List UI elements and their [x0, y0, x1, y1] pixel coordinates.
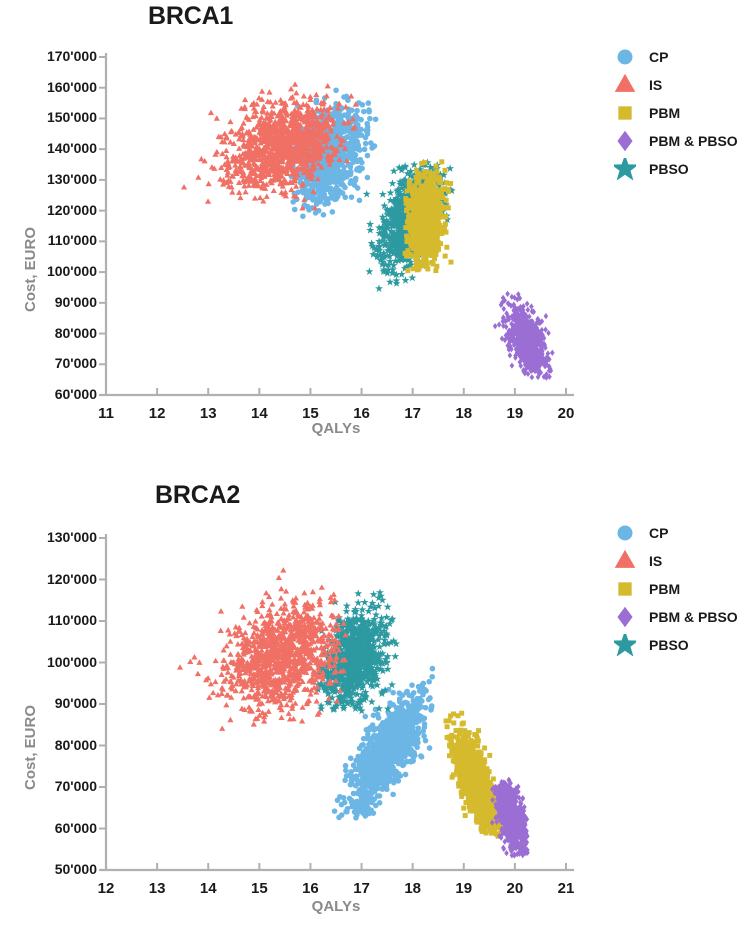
legend-label: PBM — [649, 105, 680, 121]
chart-panel-brca2: BRCA2 Cost, EURO QALYs CPISPBMPBM & PBSO… — [0, 466, 749, 932]
y-tick-label: 50'000 — [11, 861, 97, 877]
y-tick-label: 110'000 — [11, 612, 97, 628]
y-tick-label: 170'000 — [11, 48, 97, 64]
star-marker-icon — [612, 158, 638, 180]
x-tick-label: 17 — [342, 880, 382, 897]
legend-item-pbm[interactable]: PBM — [612, 99, 738, 127]
x-tick-label: 21 — [546, 880, 586, 897]
plot-area-brca1 — [106, 57, 566, 395]
y-tick-label: 70'000 — [11, 778, 97, 794]
y-tick-label: 150'000 — [11, 109, 97, 125]
y-tick-label: 120'000 — [11, 571, 97, 587]
diamond-marker-icon — [612, 130, 638, 152]
legend-label: PBM & PBSO — [649, 609, 738, 625]
circle-marker-icon — [612, 46, 638, 68]
x-tick-label: 15 — [239, 880, 279, 897]
y-tick-label: 130'000 — [11, 529, 97, 545]
y-tick-label: 130'000 — [11, 171, 97, 187]
x-tick-label: 20 — [546, 405, 586, 422]
x-tick-label: 14 — [188, 880, 228, 897]
plot-area-brca2 — [106, 538, 566, 870]
legend-label: PBM & PBSO — [649, 133, 738, 149]
legend-item-is[interactable]: IS — [612, 547, 738, 575]
series-pbm-pbso — [493, 291, 555, 381]
x-tick-label: 13 — [188, 405, 228, 422]
y-tick-label: 110'000 — [11, 232, 97, 248]
legend-label: IS — [649, 77, 662, 93]
y-tick-label: 60'000 — [11, 820, 97, 836]
y-tick-label: 90'000 — [11, 695, 97, 711]
legend-item-pbm[interactable]: PBM — [612, 575, 738, 603]
legend-label: IS — [649, 553, 662, 569]
legend-label: PBM — [649, 581, 680, 597]
legend-label: CP — [649, 525, 668, 541]
legend-item-pbso[interactable]: PBSO — [612, 155, 738, 183]
y-tick-label: 80'000 — [11, 325, 97, 341]
x-tick-label: 16 — [342, 405, 382, 422]
x-tick-label: 12 — [137, 405, 177, 422]
y-tick-label: 90'000 — [11, 294, 97, 310]
x-tick-label: 17 — [393, 405, 433, 422]
square-marker-icon — [612, 578, 638, 600]
legend-item-cp[interactable]: CP — [612, 519, 738, 547]
legend-item-pbm-pbso[interactable]: PBM & PBSO — [612, 603, 738, 631]
circle-marker-icon — [612, 522, 638, 544]
chart-panel-brca1: BRCA1 Cost, EURO QALYs CPISPBMPBM & PBSO… — [0, 0, 749, 466]
y-tick-label: 70'000 — [11, 355, 97, 371]
x-tick-label: 18 — [444, 405, 484, 422]
square-marker-icon — [612, 102, 638, 124]
chart-title-brca1: BRCA1 — [148, 2, 233, 31]
scatter-canvas-brca1 — [106, 57, 566, 395]
scatter-canvas-brca2 — [106, 538, 566, 870]
legend-item-pbso[interactable]: PBSO — [612, 631, 738, 659]
legend-item-pbm-pbso[interactable]: PBM & PBSO — [612, 127, 738, 155]
y-tick-label: 60'000 — [11, 386, 97, 402]
x-tick-label: 16 — [290, 880, 330, 897]
legend-label: CP — [649, 49, 668, 65]
legend-label: PBSO — [649, 637, 689, 653]
y-tick-label: 80'000 — [11, 737, 97, 753]
legend-item-is[interactable]: IS — [612, 71, 738, 99]
x-tick-label: 12 — [86, 880, 126, 897]
legend-item-cp[interactable]: CP — [612, 43, 738, 71]
x-tick-label: 13 — [137, 880, 177, 897]
x-tick-label: 14 — [239, 405, 279, 422]
figure-root: BRCA1 Cost, EURO QALYs CPISPBMPBM & PBSO… — [0, 0, 749, 933]
x-tick-label: 19 — [495, 405, 535, 422]
triangle-marker-icon — [612, 550, 638, 572]
chart-title-brca2: BRCA2 — [155, 481, 240, 510]
x-axis-label-brca2: QALYs — [106, 898, 566, 915]
y-tick-label: 160'000 — [11, 79, 97, 95]
triangle-marker-icon — [612, 74, 638, 96]
y-tick-label: 100'000 — [11, 263, 97, 279]
x-tick-label: 20 — [495, 880, 535, 897]
star-marker-icon — [612, 634, 638, 656]
legend-label: PBSO — [649, 161, 689, 177]
x-tick-label: 15 — [290, 405, 330, 422]
x-tick-label: 11 — [86, 405, 126, 422]
y-tick-label: 140'000 — [11, 140, 97, 156]
y-tick-label: 120'000 — [11, 202, 97, 218]
diamond-marker-icon — [612, 606, 638, 628]
x-tick-label: 19 — [444, 880, 484, 897]
series-pbm-pbso — [490, 777, 530, 859]
x-tick-label: 18 — [393, 880, 433, 897]
legend-brca1: CPISPBMPBM & PBSOPBSO — [612, 43, 738, 183]
y-tick-label: 100'000 — [11, 654, 97, 670]
legend-brca2: CPISPBMPBM & PBSOPBSO — [612, 519, 738, 659]
x-axis-label-brca1: QALYs — [106, 420, 566, 437]
